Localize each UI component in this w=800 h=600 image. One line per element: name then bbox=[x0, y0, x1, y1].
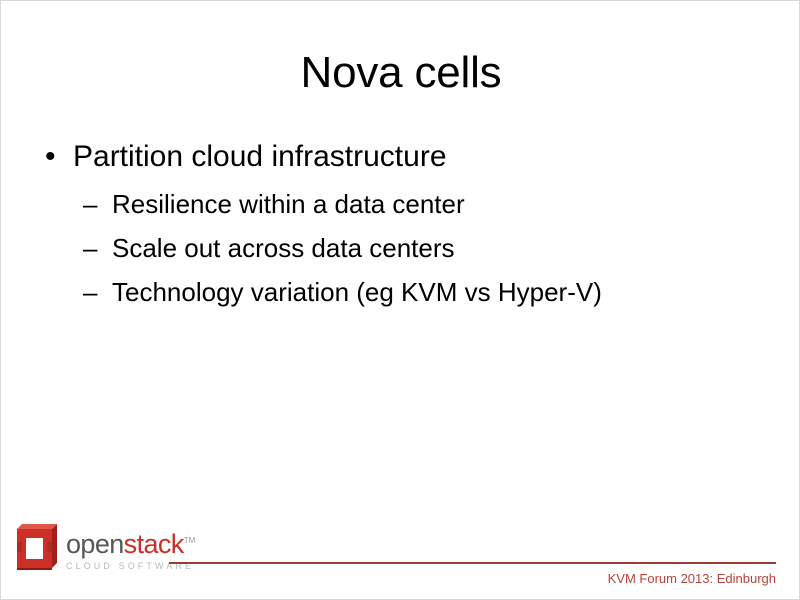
bullet-level2-text: Scale out across data centers bbox=[112, 233, 455, 263]
bullet-dash-icon: – bbox=[83, 270, 97, 314]
bullet-level2-text: Resilience within a data center bbox=[112, 189, 465, 219]
bullet-level2: – Resilience within a data center bbox=[1, 182, 761, 226]
bullet-level2: – Scale out across data centers bbox=[1, 226, 761, 270]
slide-body: • Partition cloud infrastructure – Resil… bbox=[1, 137, 761, 314]
openstack-word-stack: stack bbox=[124, 529, 184, 559]
openstack-word-open: open bbox=[66, 529, 124, 559]
slide-footer: openstackTM CLOUD SOFTWARE KVM Forum 201… bbox=[1, 519, 800, 599]
sub-bullet-list: – Resilience within a data center – Scal… bbox=[1, 182, 761, 314]
bullet-dash-icon: – bbox=[83, 182, 97, 226]
presentation-slide: Nova cells • Partition cloud infrastruct… bbox=[0, 0, 800, 600]
slide-title: Nova cells bbox=[1, 47, 800, 99]
footer-event-label: KVM Forum 2013: Edinburgh bbox=[608, 570, 776, 588]
bullet-level2-text: Technology variation (eg KVM vs Hyper-V) bbox=[112, 277, 602, 307]
bullet-level1-text: Partition cloud infrastructure bbox=[73, 140, 447, 173]
footer-divider bbox=[169, 562, 776, 564]
openstack-cube-icon bbox=[11, 521, 59, 573]
trademark-icon: TM bbox=[184, 536, 196, 545]
bullet-dot-icon: • bbox=[45, 137, 56, 177]
bullet-dash-icon: – bbox=[83, 226, 97, 270]
bullet-level1: • Partition cloud infrastructure bbox=[1, 137, 761, 177]
openstack-wordmark-main: openstackTM bbox=[66, 527, 195, 558]
bullet-level2: – Technology variation (eg KVM vs Hyper-… bbox=[1, 270, 761, 314]
openstack-wordmark: openstackTM CLOUD SOFTWARE bbox=[66, 521, 195, 572]
openstack-logo: openstackTM CLOUD SOFTWARE bbox=[11, 521, 195, 573]
